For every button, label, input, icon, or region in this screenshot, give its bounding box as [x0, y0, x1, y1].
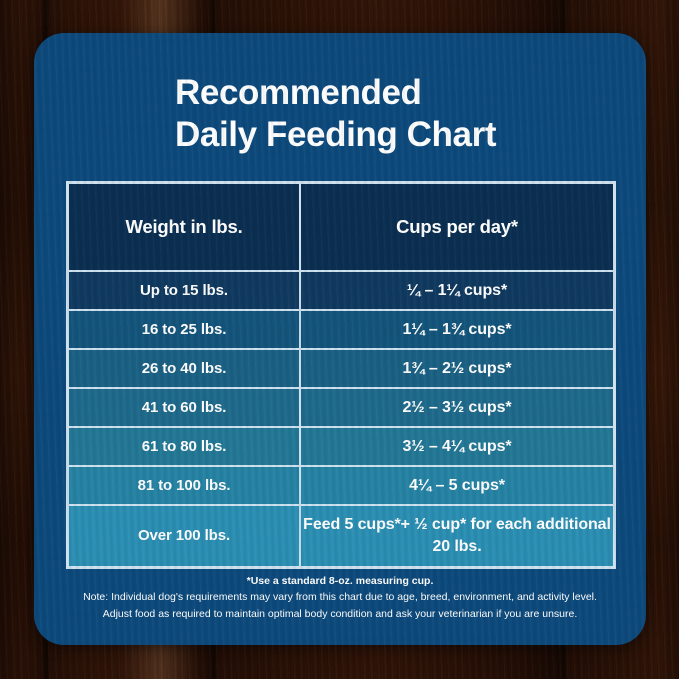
cell-weight: 41 to 60 lbs. [68, 388, 300, 427]
cell-weight: 26 to 40 lbs. [68, 349, 300, 388]
cell-weight: Up to 15 lbs. [68, 271, 300, 310]
page-title: Recommended Daily Feeding Chart [34, 33, 646, 156]
cell-weight: 16 to 25 lbs. [68, 310, 300, 349]
feeding-chart-table: Weight in lbs. Cups per day* Up to 15 lb… [66, 181, 616, 569]
title-line-2: Daily Feeding Chart [175, 114, 646, 156]
column-header-cups: Cups per day* [300, 183, 614, 271]
footnote-measuring-cup: *Use a standard 8-oz. measuring cup. [48, 573, 632, 589]
cell-cups: 2½ – 3½ cups* [300, 388, 614, 427]
cell-cups: 1¼ – 1¾ cups* [300, 310, 614, 349]
table-row: 81 to 100 lbs. 4¼ – 5 cups* [68, 466, 614, 505]
cell-cups: ¼ – 1¼ cups* [300, 271, 614, 310]
cell-cups: Feed 5 cups*+ ½ cup* for each additional… [300, 505, 614, 567]
table-header-row: Weight in lbs. Cups per day* [68, 183, 614, 271]
column-header-weight: Weight in lbs. [68, 183, 300, 271]
table-row: 61 to 80 lbs. 3½ – 4¼ cups* [68, 427, 614, 466]
table-row: 16 to 25 lbs. 1¼ – 1¾ cups* [68, 310, 614, 349]
table-row: 41 to 60 lbs. 2½ – 3½ cups* [68, 388, 614, 427]
cell-weight: 81 to 100 lbs. [68, 466, 300, 505]
footnote-note: Note: Individual dog's requirements may … [48, 589, 632, 605]
cell-weight: Over 100 lbs. [68, 505, 300, 567]
footnotes: *Use a standard 8-oz. measuring cup. Not… [34, 573, 646, 622]
table-row: Up to 15 lbs. ¼ – 1¼ cups* [68, 271, 614, 310]
cell-cups: 1¾ – 2½ cups* [300, 349, 614, 388]
cell-cups: 3½ – 4¼ cups* [300, 427, 614, 466]
feeding-chart-card: Recommended Daily Feeding Chart Weight i… [34, 33, 646, 645]
cell-weight: 61 to 80 lbs. [68, 427, 300, 466]
title-line-1: Recommended [175, 72, 646, 114]
cell-cups: 4¼ – 5 cups* [300, 466, 614, 505]
table-row: Over 100 lbs. Feed 5 cups*+ ½ cup* for e… [68, 505, 614, 567]
footnote-adjust: Adjust food as required to maintain opti… [48, 606, 632, 622]
table-row: 26 to 40 lbs. 1¾ – 2½ cups* [68, 349, 614, 388]
wood-background: Recommended Daily Feeding Chart Weight i… [0, 0, 679, 679]
